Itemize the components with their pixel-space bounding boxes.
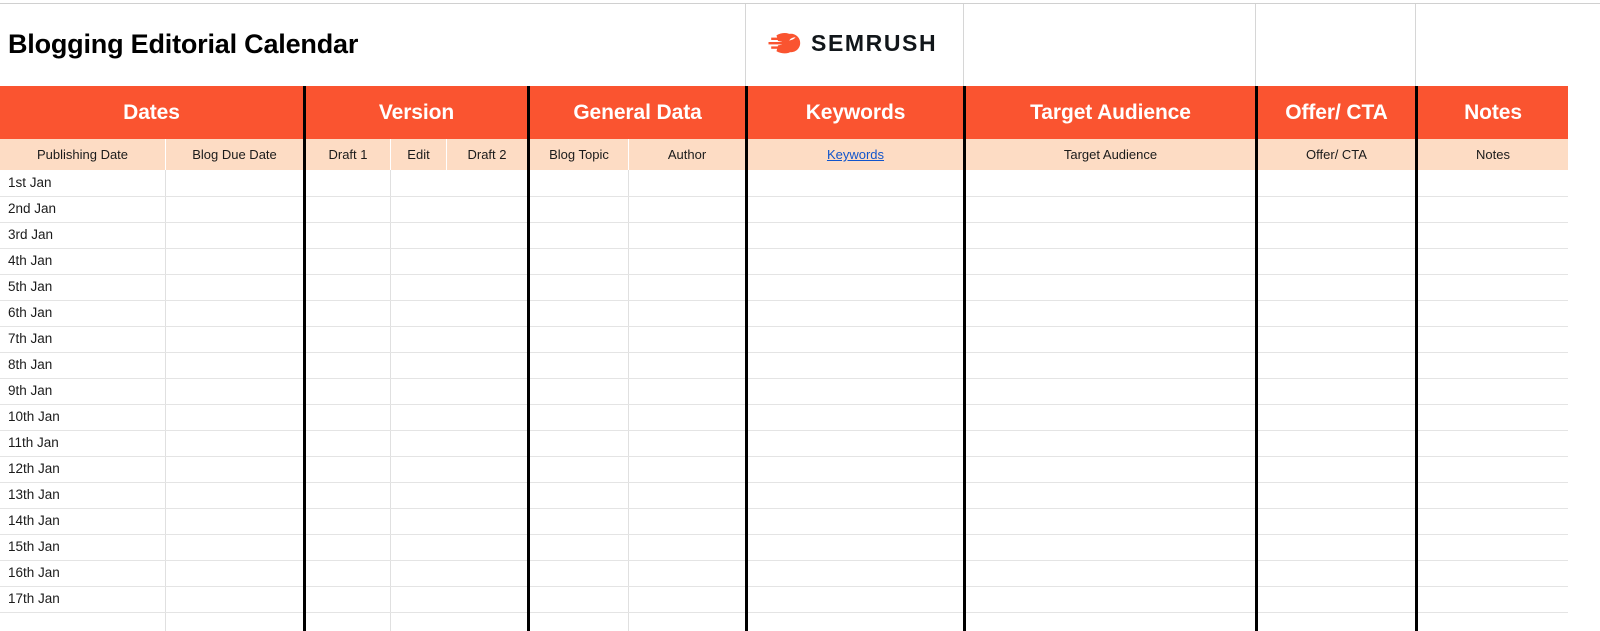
- sub-header-row: Publishing DateBlog Due DateDraft 1EditD…: [0, 139, 1568, 170]
- group-header-notes[interactable]: Notes: [1418, 86, 1568, 139]
- row-grid-line: [0, 404, 1568, 405]
- column-header-blog-due-date[interactable]: Blog Due Date: [166, 139, 303, 170]
- table-row[interactable]: 15th Jan: [8, 534, 60, 560]
- row-grid-line: [0, 248, 1568, 249]
- column-grid-line: [165, 170, 166, 631]
- table-row[interactable]: 14th Jan: [8, 508, 60, 534]
- row-grid-line: [0, 300, 1568, 301]
- table-row[interactable]: 16th Jan: [8, 560, 60, 586]
- editorial-calendar-table: DatesVersionGeneral DataKeywordsTarget A…: [0, 86, 1568, 631]
- table-row[interactable]: 11th Jan: [8, 430, 59, 456]
- table-row[interactable]: 2nd Jan: [8, 196, 56, 222]
- column-header-draft-1[interactable]: Draft 1: [306, 139, 390, 170]
- table-row[interactable]: 4th Jan: [8, 248, 52, 274]
- title-band-separator: [1255, 4, 1256, 86]
- row-grid-line: [0, 430, 1568, 431]
- group-header-dates[interactable]: Dates: [0, 86, 303, 139]
- group-header-keywords[interactable]: Keywords: [748, 86, 963, 139]
- group-divider: [303, 86, 306, 631]
- row-grid-line: [0, 352, 1568, 353]
- table-row[interactable]: 6th Jan: [8, 300, 52, 326]
- group-divider: [527, 86, 530, 631]
- group-header-offer-cta[interactable]: Offer/ CTA: [1258, 86, 1415, 139]
- spreadsheet-canvas: Blogging Editorial Calendar SEMRUSH Date…: [0, 0, 1600, 631]
- group-header-target-audience[interactable]: Target Audience: [966, 86, 1255, 139]
- row-grid-line: [0, 612, 1568, 613]
- group-divider: [963, 86, 966, 631]
- row-grid-line: [0, 326, 1568, 327]
- brand-logo: SEMRUSH: [768, 27, 937, 59]
- table-row[interactable]: 13th Jan: [8, 482, 60, 508]
- column-header-blog-topic[interactable]: Blog Topic: [530, 139, 628, 170]
- column-header-keywords[interactable]: Keywords: [748, 139, 963, 170]
- row-grid-line: [0, 274, 1568, 275]
- row-grid-line: [0, 196, 1568, 197]
- table-row[interactable]: 12th Jan: [8, 456, 60, 482]
- row-grid-line: [0, 560, 1568, 561]
- table-row[interactable]: 3rd Jan: [8, 222, 53, 248]
- row-grid-line: [0, 222, 1568, 223]
- table-row[interactable]: 17th Jan: [8, 586, 60, 612]
- table-row[interactable]: 8th Jan: [8, 352, 52, 378]
- semrush-comet-icon: [768, 31, 802, 55]
- group-divider: [1255, 86, 1258, 631]
- column-header-offer-cta[interactable]: Offer/ CTA: [1258, 139, 1415, 170]
- title-band-separator: [1415, 4, 1416, 86]
- row-grid-line: [0, 482, 1568, 483]
- column-header-edit[interactable]: Edit: [391, 139, 446, 170]
- row-grid-line: [0, 456, 1568, 457]
- brand-name: SEMRUSH: [811, 30, 937, 57]
- table-body[interactable]: 1st Jan2nd Jan3rd Jan4th Jan5th Jan6th J…: [0, 170, 1568, 631]
- group-header-version[interactable]: Version: [306, 86, 527, 139]
- column-grid-line: [628, 170, 629, 631]
- table-row[interactable]: 1st Jan: [8, 170, 52, 196]
- column-header-notes[interactable]: Notes: [1418, 139, 1568, 170]
- group-header-row: DatesVersionGeneral DataKeywordsTarget A…: [0, 86, 1568, 139]
- column-header-publishing-date[interactable]: Publishing Date: [0, 139, 165, 170]
- row-grid-line: [0, 534, 1568, 535]
- group-divider: [745, 86, 748, 631]
- table-row[interactable]: 9th Jan: [8, 378, 52, 404]
- table-row[interactable]: 7th Jan: [8, 326, 52, 352]
- group-header-general-data[interactable]: General Data: [530, 86, 745, 139]
- title-band-separator: [963, 4, 964, 86]
- row-grid-line: [0, 586, 1568, 587]
- page-title: Blogging Editorial Calendar: [8, 29, 358, 60]
- table-row[interactable]: 5th Jan: [8, 274, 52, 300]
- group-divider: [1415, 86, 1418, 631]
- row-grid-line: [0, 508, 1568, 509]
- table-row[interactable]: 10th Jan: [8, 404, 60, 430]
- column-header-draft-2[interactable]: Draft 2: [447, 139, 527, 170]
- column-header-author[interactable]: Author: [629, 139, 745, 170]
- column-header-target-audience[interactable]: Target Audience: [966, 139, 1255, 170]
- title-band-separator: [745, 4, 746, 86]
- keywords-link[interactable]: Keywords: [827, 147, 884, 162]
- column-grid-line: [390, 170, 391, 631]
- row-grid-line: [0, 378, 1568, 379]
